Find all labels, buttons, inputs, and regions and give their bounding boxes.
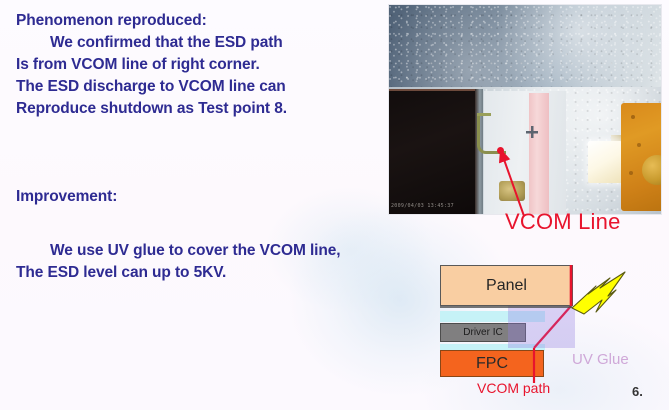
photo-callout-point xyxy=(497,147,504,154)
phenomenon-line-1: We confirmed that the ESD path xyxy=(16,32,388,54)
phenomenon-line-2: Is from VCOM line of right corner. xyxy=(16,54,388,76)
slide-canvas: Phenomenon reproduced: We confirmed that… xyxy=(0,0,669,410)
photo-vcom-trace-tail xyxy=(477,113,491,116)
vcom-path-diagonal xyxy=(534,306,571,348)
improvement-line-2: The ESD level can up to 5KV. xyxy=(16,262,406,284)
diagram-vcom-path-label: VCOM path xyxy=(477,380,550,396)
esd-photo: 2009/04/03 13:45:37 xyxy=(388,4,662,215)
page-number: 6. xyxy=(632,384,643,399)
improvement-heading-block: Improvement: xyxy=(16,186,396,208)
photo-display-panel xyxy=(388,89,483,215)
phenomenon-line-4: Reproduce shutdown as Test point 8. xyxy=(16,98,388,120)
esd-lightning-bolt-icon xyxy=(572,272,625,314)
photo-content: 2009/04/03 13:45:37 xyxy=(389,5,661,214)
phenomenon-text-block: Phenomenon reproduced: We confirmed that… xyxy=(16,10,388,120)
improvement-heading: Improvement: xyxy=(16,186,396,208)
photo-solder-pads xyxy=(499,181,525,201)
phenomenon-line-3: The ESD discharge to VCOM line can xyxy=(16,76,388,98)
photo-screw-mark xyxy=(525,125,539,139)
photo-background-upper xyxy=(389,5,661,91)
phenomenon-heading: Phenomenon reproduced: xyxy=(16,10,388,32)
photo-timestamp: 2009/04/03 13:45:37 xyxy=(391,203,454,209)
photo-pink-tape xyxy=(529,93,549,215)
photo-bright-component xyxy=(588,141,622,183)
vcom-line-label: VCOM Line xyxy=(505,209,621,235)
improvement-text-block: We use UV glue to cover the VCOM line, T… xyxy=(16,240,406,284)
improvement-line-1: We use UV glue to cover the VCOM line, xyxy=(16,240,406,262)
